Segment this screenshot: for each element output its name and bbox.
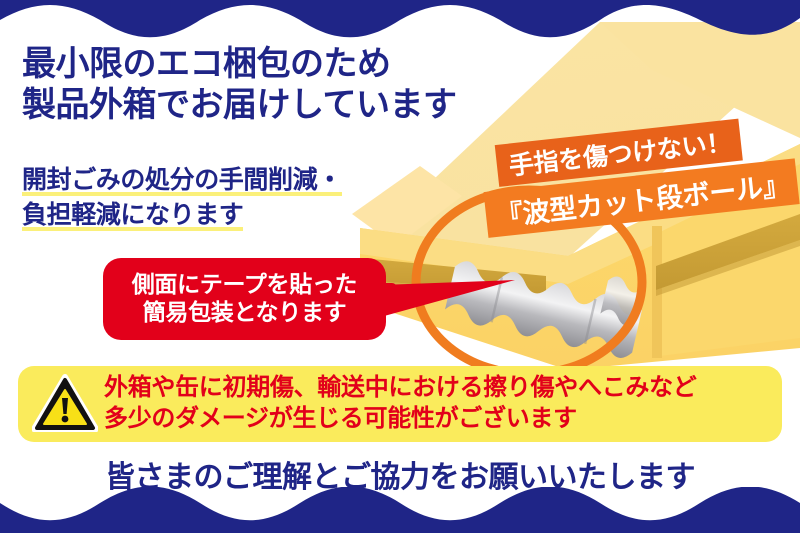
warning-panel: 外箱や缶に初期傷、輸送中における擦り傷やへこみなど 多少のダメージが生じる可能性…: [18, 366, 782, 442]
top-wave-border: [0, 0, 800, 42]
red-callout-balloon: 側面にテープを貼った 簡易包装となります: [103, 258, 386, 340]
headline-line1: 最小限のエコ梱包のため: [22, 45, 391, 83]
warning-line2: 多少のダメージが生じる可能性がございます: [104, 404, 697, 435]
subtitle: 開封ごみの処分の手間削減・ 負担軽減になります: [22, 163, 342, 232]
subtitle-line1: 開封ごみの処分の手間削減・: [22, 166, 342, 196]
bottom-wave-border: [0, 487, 800, 533]
page-title: 最小限のエコ梱包のため 製品外箱でお届けしています: [22, 44, 456, 127]
eco-packaging-banner: 側面にテープを貼った 簡易包装となります 手指を傷つけない！ 『波型カット段ボー…: [0, 0, 800, 533]
warning-line1: 外箱や缶に初期傷、輸送中における擦り傷やへこみなど: [104, 373, 697, 404]
subtitle-line2: 負担軽減になります: [22, 201, 243, 231]
red-callout-line2: 簡易包装となります: [143, 299, 347, 327]
warning-triangle-icon: [32, 374, 98, 434]
warning-text: 外箱や缶に初期傷、輸送中における擦り傷やへこみなど 多少のダメージが生じる可能性…: [104, 373, 697, 434]
red-arrow-pointer: [355, 262, 525, 346]
red-callout-line1: 側面にテープを貼った: [132, 271, 358, 299]
headline-line2: 製品外箱でお届けしています: [22, 85, 456, 126]
